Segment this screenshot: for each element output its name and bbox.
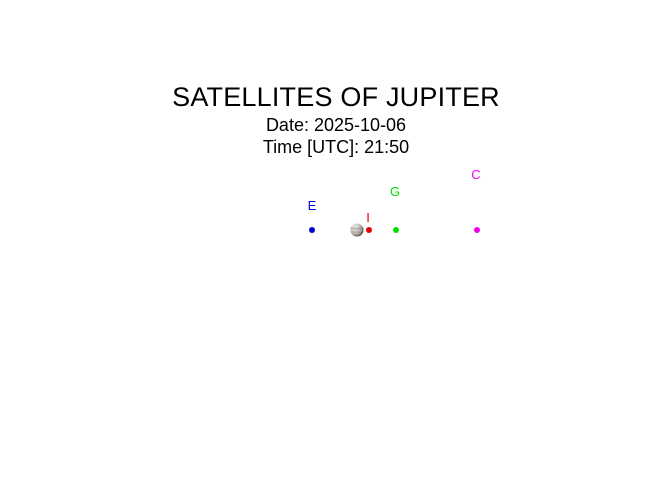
moon-marker-europa (309, 227, 315, 233)
moon-marker-callisto (474, 227, 480, 233)
moon-marker-io (366, 227, 372, 233)
jupiter-planet-disk (351, 224, 364, 237)
sky-field: E I G C (0, 0, 672, 480)
jupiter-cloud-band-south (351, 231, 364, 232)
jupiter-satellites-plot: SATELLITES OF JUPITER Date: 2025-10-06 T… (0, 0, 672, 480)
moon-marker-ganymede (393, 227, 399, 233)
moon-label-ganymede: G (390, 185, 400, 198)
moon-label-io: I (366, 211, 370, 224)
moon-label-callisto: C (471, 168, 480, 181)
moon-label-europa: E (308, 199, 317, 212)
jupiter-cloud-band-north (351, 228, 364, 229)
